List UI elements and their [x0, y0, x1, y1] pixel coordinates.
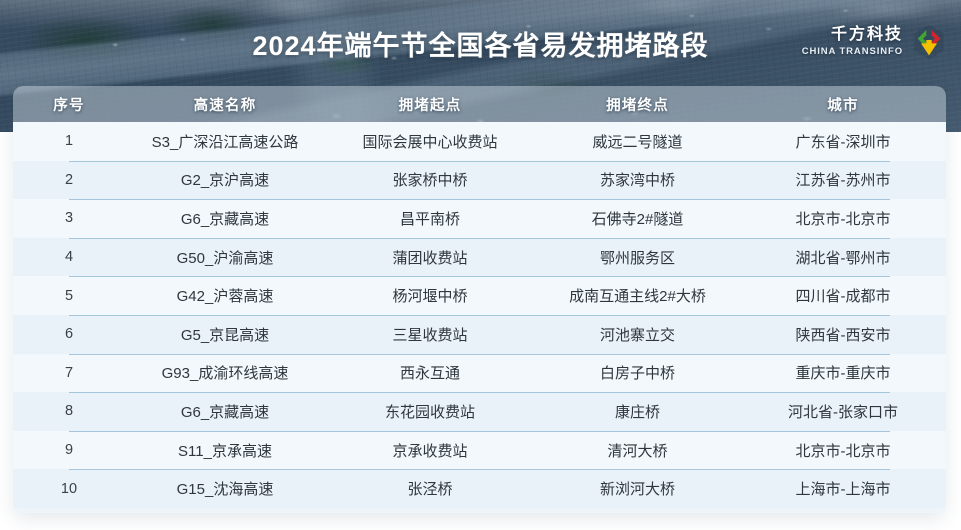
cell-road: G2_京沪高速 [125, 169, 325, 190]
cell-end: 成南互通主线2#大桥 [535, 285, 740, 306]
cell-city: 广东省-深圳市 [740, 131, 946, 152]
cell-city: 北京市-北京市 [740, 208, 946, 229]
cell-road: G6_京藏高速 [125, 208, 325, 229]
cell-start: 昌平南桥 [325, 208, 535, 229]
cell-road: G42_沪蓉高速 [125, 285, 325, 306]
column-header-end: 拥堵终点 [535, 94, 740, 115]
brand-wordmark: 千方科技 CHINA TRANSINFO [802, 27, 903, 57]
cell-index: 10 [13, 481, 125, 497]
cell-city: 江苏省-苏州市 [740, 169, 946, 190]
cell-road: G50_沪渝高速 [125, 247, 325, 268]
cell-road: S3_广深沿江高速公路 [125, 131, 325, 152]
cell-index: 8 [13, 403, 125, 419]
table-row[interactable]: 9 S11_京承高速 京承收费站 清河大桥 北京市-北京市 [13, 431, 946, 470]
cell-start: 杨河堰中桥 [325, 285, 535, 306]
cell-end: 石佛寺2#隧道 [535, 208, 740, 229]
cell-city: 湖北省-鄂州市 [740, 247, 946, 268]
table-body: 1 S3_广深沿江高速公路 国际会展中心收费站 威远二号隧道 广东省-深圳市 2… [13, 122, 946, 513]
cell-road: G15_沈海高速 [125, 478, 325, 499]
cell-index: 2 [13, 172, 125, 188]
column-header-city: 城市 [740, 94, 946, 115]
cell-road: S11_京承高速 [125, 440, 325, 461]
cell-start: 京承收费站 [325, 440, 535, 461]
cell-start: 国际会展中心收费站 [325, 131, 535, 152]
cell-end: 苏家湾中桥 [535, 169, 740, 190]
table-row[interactable]: 3 G6_京藏高速 昌平南桥 石佛寺2#隧道 北京市-北京市 [13, 199, 946, 238]
cell-start: 张家桥中桥 [325, 169, 535, 190]
cell-index: 3 [13, 210, 125, 226]
brand-logo: 千方科技 CHINA TRANSINFO [802, 22, 949, 62]
cell-end: 清河大桥 [535, 440, 740, 461]
table-header: 序号 高速名称 拥堵起点 拥堵终点 城市 [13, 86, 946, 122]
cell-end: 威远二号隧道 [535, 131, 740, 152]
table-row[interactable]: 5 G42_沪蓉高速 杨河堰中桥 成南互通主线2#大桥 四川省-成都市 [13, 276, 946, 315]
table-row[interactable]: 8 G6_京藏高速 东花园收费站 康庄桥 河北省-张家口市 [13, 392, 946, 431]
cell-index: 1 [13, 133, 125, 149]
cell-index: 4 [13, 249, 125, 265]
cell-start: 张泾桥 [325, 478, 535, 499]
cell-start: 东花园收费站 [325, 401, 535, 422]
brand-name-cn: 千方科技 [802, 27, 903, 43]
table-row[interactable]: 1 S3_广深沿江高速公路 国际会展中心收费站 威远二号隧道 广东省-深圳市 [13, 122, 946, 161]
cell-start: 蒲团收费站 [325, 247, 535, 268]
cell-city: 陕西省-西安市 [740, 324, 946, 345]
cell-city: 上海市-上海市 [740, 478, 946, 499]
cell-index: 5 [13, 288, 125, 304]
cell-city: 河北省-张家口市 [740, 401, 946, 422]
cell-end: 新浏河大桥 [535, 478, 740, 499]
cell-city: 北京市-北京市 [740, 440, 946, 461]
cell-start: 西永互通 [325, 362, 535, 383]
cell-end: 鄂州服务区 [535, 247, 740, 268]
cell-city: 重庆市-重庆市 [740, 362, 946, 383]
table-row[interactable]: 2 G2_京沪高速 张家桥中桥 苏家湾中桥 江苏省-苏州市 [13, 161, 946, 200]
column-header-index: 序号 [13, 94, 125, 115]
cell-end: 康庄桥 [535, 401, 740, 422]
cell-road: G5_京昆高速 [125, 324, 325, 345]
table-row[interactable]: 4 G50_沪渝高速 蒲团收费站 鄂州服务区 湖北省-鄂州市 [13, 238, 946, 277]
table-row[interactable]: 7 G93_成渝环线高速 西永互通 白房子中桥 重庆市-重庆市 [13, 354, 946, 393]
table-row[interactable]: 10 G15_沈海高速 张泾桥 新浏河大桥 上海市-上海市 [13, 469, 946, 508]
cell-city: 四川省-成都市 [740, 285, 946, 306]
table-header-row: 序号 高速名称 拥堵起点 拥堵终点 城市 [13, 86, 946, 122]
cell-end: 河池寨立交 [535, 324, 740, 345]
cell-index: 9 [13, 442, 125, 458]
column-header-start: 拥堵起点 [325, 94, 535, 115]
hexagon-arrows-icon [909, 22, 949, 62]
cell-road: G93_成渝环线高速 [125, 362, 325, 383]
brand-name-en: CHINA TRANSINFO [802, 47, 903, 57]
cell-index: 6 [13, 326, 125, 342]
cell-start: 三星收费站 [325, 324, 535, 345]
cell-index: 7 [13, 365, 125, 381]
table-row[interactable]: 6 G5_京昆高速 三星收费站 河池寨立交 陕西省-西安市 [13, 315, 946, 354]
screenshot-root: 2024年端午节全国各省易发拥堵路段 千方科技 CHINA TRANSINFO … [0, 0, 961, 530]
column-header-road: 高速名称 [125, 94, 325, 115]
cell-road: G6_京藏高速 [125, 401, 325, 422]
cell-end: 白房子中桥 [535, 362, 740, 383]
congestion-table-card: 序号 高速名称 拥堵起点 拥堵终点 城市 1 S3_广深沿江高速公路 国际会展中… [13, 86, 946, 513]
